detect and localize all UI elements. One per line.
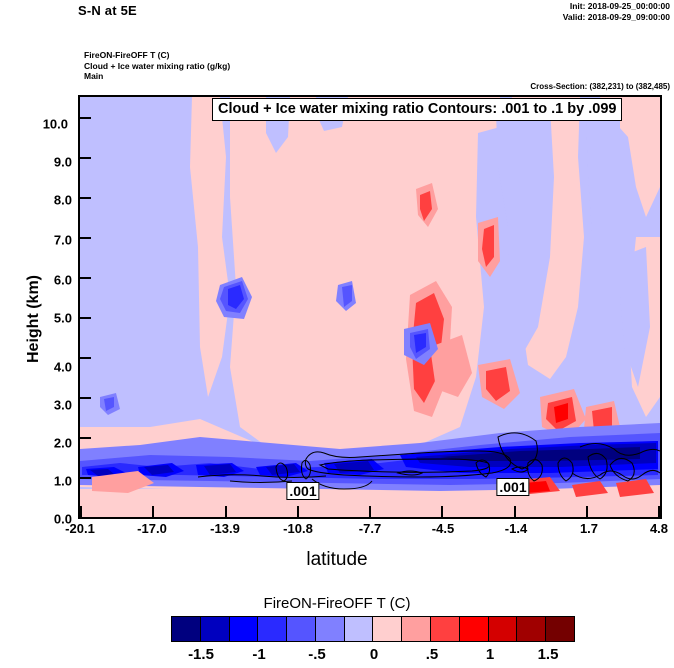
colorbar-tick-label: -1.5 xyxy=(171,646,231,663)
x-tick-mark xyxy=(225,506,227,517)
subtitle-overlay: Cloud + Ice water mixing ratio (g/kg) xyxy=(84,61,230,72)
subtitle-block: FireON-FireOFF T (C) Cloud + Ice water m… xyxy=(84,50,230,82)
colorbar-swatch-1 xyxy=(201,617,230,641)
x-tick-label: 1.7 xyxy=(554,521,624,536)
x-tick-mark xyxy=(369,506,371,517)
x-tick-label: -13.9 xyxy=(190,521,260,536)
x-tick-label: -20.1 xyxy=(45,521,115,536)
x-tick-mark xyxy=(441,506,443,517)
x-tick-label: 4.8 xyxy=(624,521,674,536)
x-tick-mark xyxy=(586,506,588,517)
colorbar-tick-label: -.5 xyxy=(287,646,347,663)
y-tick-mark xyxy=(80,477,91,479)
y-tick-label: 8.0 xyxy=(22,193,72,208)
colorbar-swatch-7 xyxy=(373,617,402,641)
colorbar-swatch-3 xyxy=(258,617,287,641)
colorbar-tick-label: 1 xyxy=(460,646,520,663)
x-tick-label: -4.5 xyxy=(408,521,478,536)
cross-section-plot xyxy=(78,95,662,519)
y-tick-mark xyxy=(80,397,91,399)
x-tick-mark xyxy=(80,506,82,517)
colorbar-title: FireON-FireOFF T (C) xyxy=(0,595,674,612)
y-tick-label: 9.0 xyxy=(22,155,72,170)
cross-section-endpoints: Cross-Section: (382,231) to (382,485) xyxy=(530,82,670,91)
x-tick-mark xyxy=(658,506,660,517)
x-tick-mark xyxy=(297,506,299,517)
y-tick-mark xyxy=(80,157,91,159)
colorbar-swatch-9 xyxy=(431,617,460,641)
x-tick-label: -10.8 xyxy=(263,521,333,536)
colorbar-tick-label: -1 xyxy=(229,646,289,663)
colorbar xyxy=(171,616,575,642)
y-tick-mark xyxy=(80,277,91,279)
colorbar-swatch-6 xyxy=(345,617,374,641)
y-tick-mark xyxy=(80,357,91,359)
colorbar-swatch-10 xyxy=(460,617,489,641)
contour-banner: Cloud + Ice water mixing ratio Contours:… xyxy=(212,98,622,121)
contour-value-label: .001 xyxy=(286,482,319,500)
y-tick-mark xyxy=(80,437,91,439)
x-tick-label: -17.0 xyxy=(117,521,187,536)
page-title: S-N at 5E xyxy=(78,3,137,18)
x-axis-label: latitude xyxy=(0,549,674,571)
colorbar-tick-label: 0 xyxy=(344,646,404,663)
x-tick-mark xyxy=(514,506,516,517)
y-axis-label: Height (km) xyxy=(25,249,43,389)
colorbar-swatch-13 xyxy=(546,617,574,641)
colorbar-swatch-5 xyxy=(316,617,345,641)
colorbar-swatch-11 xyxy=(489,617,518,641)
colorbar-swatch-8 xyxy=(402,617,431,641)
y-tick-label: 2.0 xyxy=(22,436,72,451)
contour-field xyxy=(80,97,660,517)
subtitle-variable: FireON-FireOFF T (C) xyxy=(84,50,230,61)
y-tick-mark xyxy=(80,237,91,239)
y-tick-label: 10.0 xyxy=(18,117,68,132)
x-tick-label: -7.7 xyxy=(335,521,405,536)
y-tick-mark xyxy=(80,197,91,199)
y-tick-mark xyxy=(80,517,91,519)
y-tick-label: 1.0 xyxy=(22,474,72,489)
colorbar-swatch-0 xyxy=(172,617,201,641)
y-tick-label: 3.0 xyxy=(22,398,72,413)
init-time: Init: 2018-09-25_00:00:00 xyxy=(563,1,670,12)
y-tick-mark xyxy=(80,117,91,119)
y-tick-label: 7.0 xyxy=(22,233,72,248)
contour-value-label: .001 xyxy=(496,478,529,496)
y-tick-mark xyxy=(80,317,91,319)
valid-time: Valid: 2018-09-29_09:00:00 xyxy=(563,12,670,23)
x-tick-mark xyxy=(152,506,154,517)
x-tick-label: -1.4 xyxy=(481,521,551,536)
colorbar-swatch-2 xyxy=(230,617,259,641)
colorbar-swatch-4 xyxy=(287,617,316,641)
model-time-block: Init: 2018-09-25_00:00:00 Valid: 2018-09… xyxy=(563,1,670,23)
subtitle-domain: Main xyxy=(84,71,230,82)
colorbar-tick-label: .5 xyxy=(402,646,462,663)
colorbar-tick-label: 1.5 xyxy=(518,646,578,663)
colorbar-swatch-12 xyxy=(517,617,546,641)
